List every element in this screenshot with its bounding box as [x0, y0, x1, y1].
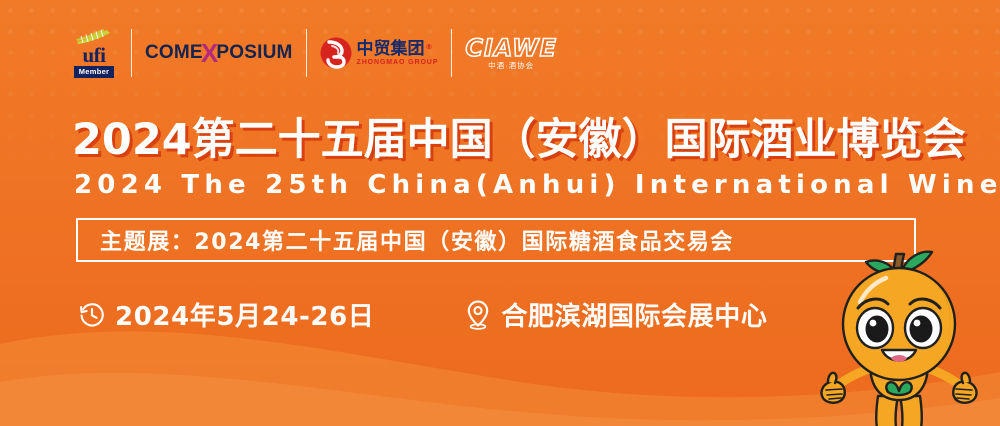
registered-trademark-icon: ®	[426, 38, 433, 56]
zhongmao-chinese-text: 中贸集团	[357, 39, 425, 59]
logo-divider	[131, 29, 132, 77]
logo-divider	[306, 29, 307, 77]
ufi-member-label: Member	[74, 66, 115, 78]
event-venue-text: 合肥滨湖国际会展中心	[501, 296, 767, 333]
location-pin-icon	[464, 300, 492, 330]
page-title-chinese: 2024第二十五届中国（安徽）国际酒业博览会	[72, 113, 952, 167]
logo-divider	[451, 29, 452, 77]
zhongmao-chinese-name: 中贸集团 ®	[357, 40, 425, 58]
comexposium-part2: POSIUM	[216, 42, 292, 64]
ciawe-wordmark: CIAWE	[465, 36, 557, 60]
event-venue: 合肥滨湖国际会展中心	[464, 296, 767, 333]
event-date: 2024年5月24-26日	[78, 296, 374, 333]
orange-fruit-mascot	[800, 246, 1000, 426]
logo-ufi[interactable]: ufi Member	[70, 25, 118, 81]
ufi-wordmark: ufi	[82, 46, 105, 65]
zhongmao-english-name: ZHONGMAO GROUP	[357, 58, 439, 67]
comexposium-part1: COME	[145, 42, 203, 64]
partner-logo-strip: ufi Member COMEXPOSIUM 中贸集团 ® ZHONGMAO G…	[70, 24, 557, 82]
event-meta-row: 2024年5月24-26日 合肥滨湖国际会展中心	[78, 296, 767, 333]
theme-exhibition-text: 主题展：2024第二十五届中国（安徽）国际糖酒食品交易会	[78, 224, 734, 256]
theme-exhibition-box: 主题展：2024第二十五届中国（安徽）国际糖酒食品交易会	[76, 218, 916, 262]
event-banner: ufi Member COMEXPOSIUM 中贸集团 ® ZHONGMAO G…	[0, 0, 1000, 426]
logo-ciawe[interactable]: CIAWE 中酒·酒协会	[465, 36, 557, 71]
logo-zhongmao[interactable]: 中贸集团 ® ZHONGMAO GROUP	[320, 36, 439, 70]
clock-icon	[78, 301, 106, 329]
zhongmao-emblem-icon	[320, 36, 352, 70]
event-date-text: 2024年5月24-26日	[115, 296, 374, 333]
logo-comexposium[interactable]: COMEXPOSIUM	[145, 42, 293, 64]
ciawe-subtitle: 中酒·酒协会	[488, 61, 534, 71]
page-title-english: 2024 The 25th China(Anhui) International…	[74, 170, 1000, 200]
